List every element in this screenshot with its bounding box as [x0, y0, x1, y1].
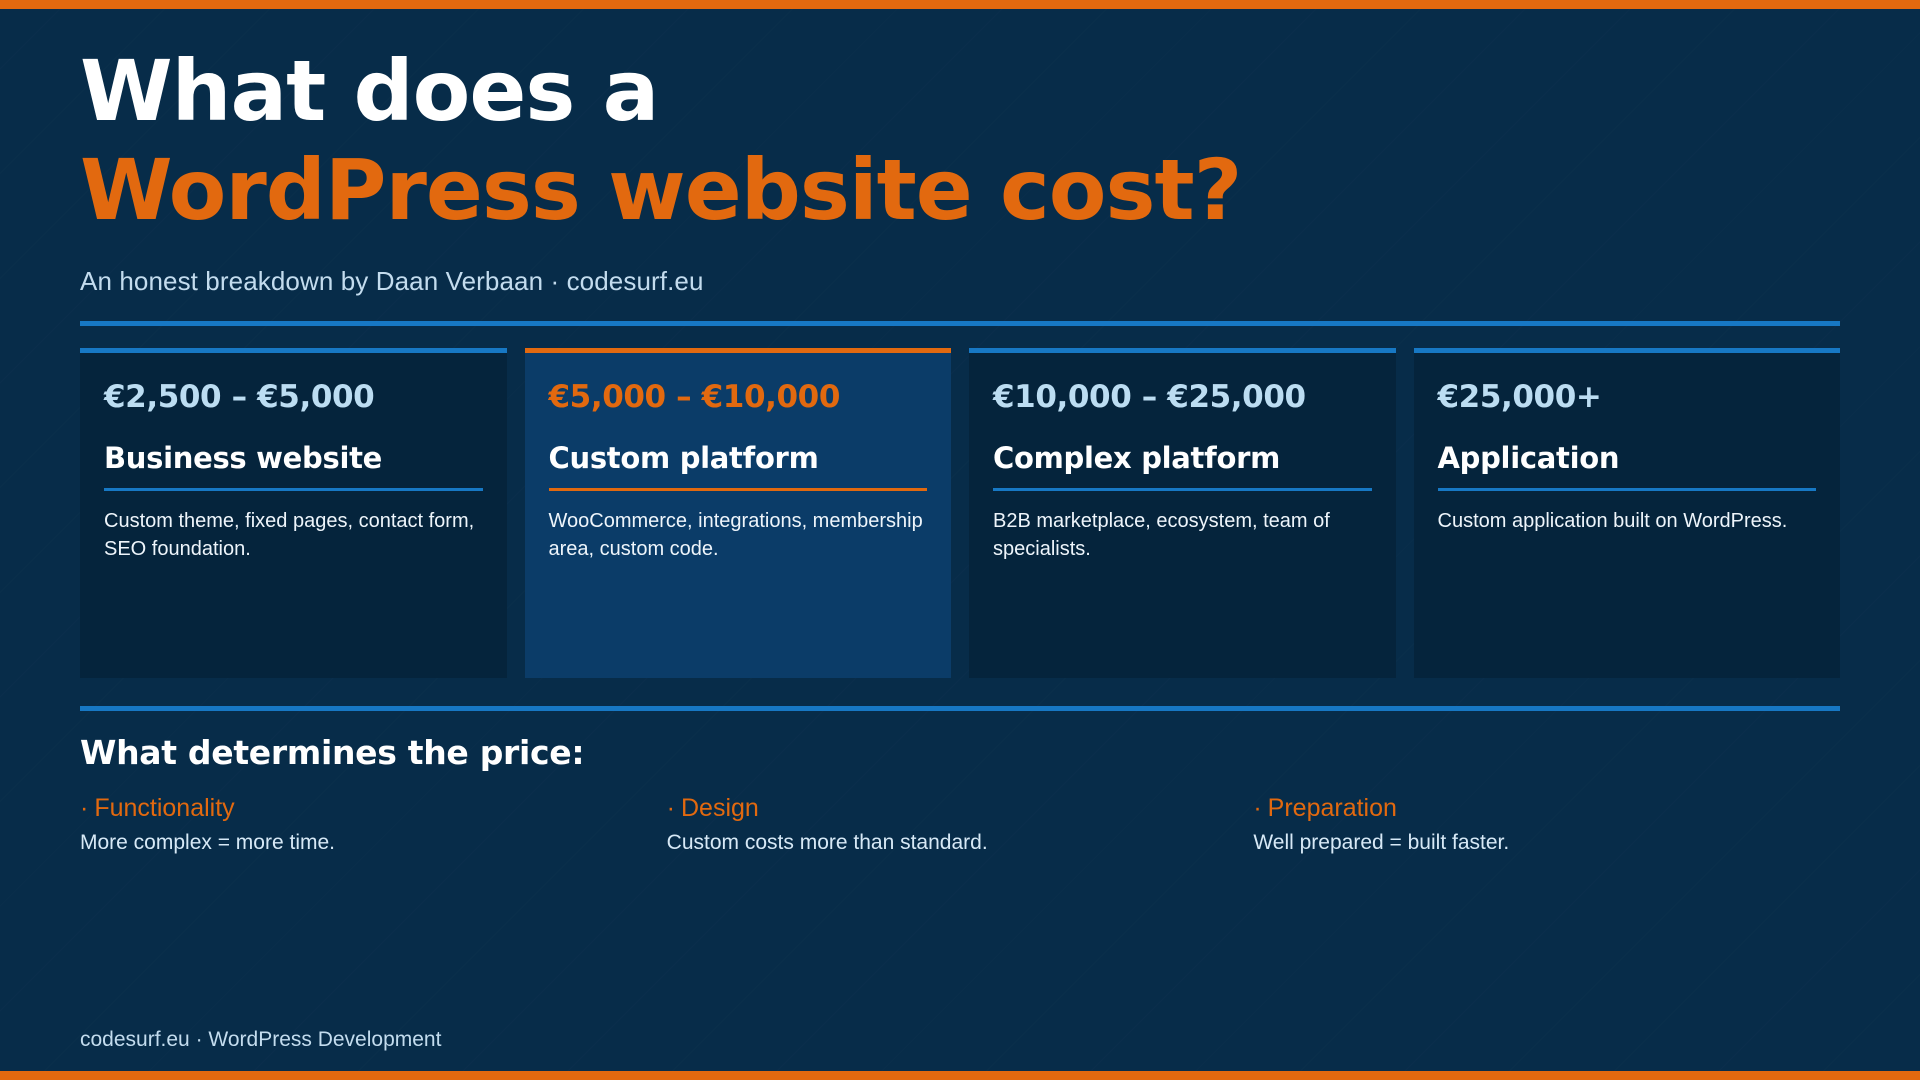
bullet-dot-icon: ·: [80, 794, 88, 822]
footer-text: codesurf.eu · WordPress Development: [80, 1028, 441, 1052]
factor-description: More complex = more time.: [80, 831, 667, 855]
factor-functionality: ·Functionality More complex = more time.: [80, 794, 667, 855]
card-price: €5,000 – €10,000: [549, 379, 928, 415]
pricing-card-list: €2,500 – €5,000 Business website Custom …: [80, 348, 1840, 678]
factor-preparation: ·Preparation Well prepared = built faste…: [1253, 794, 1840, 855]
card-title: Business website: [104, 441, 483, 491]
factors-heading: What determines the price:: [80, 733, 1840, 772]
factor-label: Design: [681, 794, 759, 822]
factor-label-row: ·Design: [667, 794, 1254, 823]
slide-canvas: What does a WordPress website cost? An h…: [0, 0, 1920, 1080]
factor-label: Functionality: [94, 794, 234, 822]
page-title-line2: WordPress website cost?: [80, 141, 1840, 240]
factor-label-row: ·Preparation: [1253, 794, 1840, 823]
slide-content: What does a WordPress website cost? An h…: [80, 0, 1840, 855]
bullet-dot-icon: ·: [667, 794, 675, 822]
divider-bottom: [80, 706, 1840, 711]
page-title-line1: What does a: [80, 42, 1840, 141]
pricing-card-application[interactable]: €25,000+ Application Custom application …: [1414, 348, 1841, 678]
card-title: Application: [1438, 441, 1817, 491]
card-title: Custom platform: [549, 441, 928, 491]
card-price: €2,500 – €5,000: [104, 379, 483, 415]
pricing-card-business-website[interactable]: €2,500 – €5,000 Business website Custom …: [80, 348, 507, 678]
card-price: €25,000+: [1438, 379, 1817, 415]
pricing-card-complex-platform[interactable]: €10,000 – €25,000 Complex platform B2B m…: [969, 348, 1396, 678]
factor-description: Custom costs more than standard.: [667, 831, 1254, 855]
card-description: Custom application built on WordPress.: [1438, 508, 1817, 536]
factor-description: Well prepared = built faster.: [1253, 831, 1840, 855]
factor-design: ·Design Custom costs more than standard.: [667, 794, 1254, 855]
bottom-accent-bar: [0, 1071, 1920, 1080]
subtitle: An honest breakdown by Daan Verbaan · co…: [80, 266, 1840, 297]
divider-top: [80, 321, 1840, 326]
factor-label-row: ·Functionality: [80, 794, 667, 823]
card-title: Complex platform: [993, 441, 1372, 491]
bullet-dot-icon: ·: [1253, 794, 1261, 822]
card-description: Custom theme, fixed pages, contact form,…: [104, 508, 483, 563]
card-description: WooCommerce, integrations, membership ar…: [549, 508, 928, 563]
card-price: €10,000 – €25,000: [993, 379, 1372, 415]
factor-label: Preparation: [1268, 794, 1397, 822]
card-description: B2B marketplace, ecosystem, team of spec…: [993, 508, 1372, 563]
pricing-card-custom-platform[interactable]: €5,000 – €10,000 Custom platform WooComm…: [525, 348, 952, 678]
factors-list: ·Functionality More complex = more time.…: [80, 794, 1840, 855]
